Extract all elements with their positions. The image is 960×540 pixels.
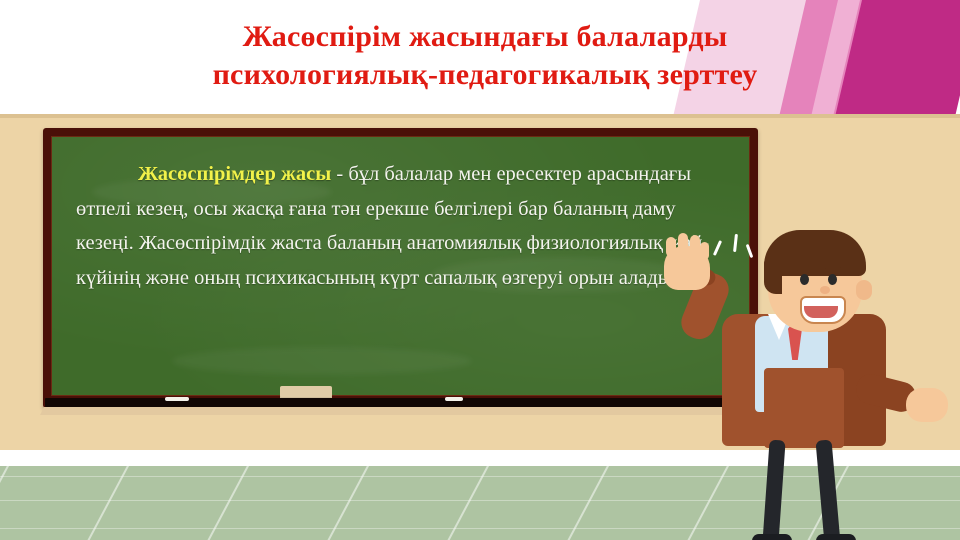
teacher-shoe-right: [816, 534, 856, 540]
teacher-waving-hand: [664, 246, 710, 290]
highlighted-term: Жасөспірімдер жасы: [138, 163, 331, 185]
wave-spark-icon: [733, 234, 738, 252]
slide-canvas: Жасөспірім жасындағы балаларды психологи…: [0, 0, 960, 540]
teacher-shoe-left: [752, 534, 792, 540]
teacher-lower-hand: [906, 388, 948, 422]
wave-spark-icon: [746, 244, 754, 258]
wave-spark-icon: [713, 240, 722, 256]
teacher-leg-right: [815, 440, 840, 540]
blackboard-surface: Жасөспірімдер жасы - бұл балалар мен ере…: [51, 136, 750, 396]
teacher-eye-left: [800, 274, 809, 285]
cartoon-teacher: [660, 228, 960, 540]
teacher-ear: [856, 280, 872, 300]
teacher-jacket-front: [764, 368, 844, 448]
board-line-6: оның психикасының күрт сапалық өзгеруі о…: [194, 267, 613, 289]
wall-trim: [0, 114, 960, 118]
blackboard: Жасөспірімдер жасы - бұл балалар мен ере…: [43, 128, 758, 408]
board-line-3: ғана тән ерекше белгілері бар баланың да…: [289, 198, 676, 220]
chalk-stick-left-icon: [165, 397, 189, 401]
chalk-stick-right-icon: [445, 397, 463, 401]
teacher-mouth-inner: [804, 306, 838, 318]
teacher-leg-left: [762, 440, 785, 540]
blackboard-text: Жасөспірімдер жасы - бұл балалар мен ере…: [76, 157, 725, 295]
teacher-eye-right: [828, 274, 837, 285]
board-line-1: - бұл балалар мен: [331, 163, 491, 185]
teacher-sideburn: [764, 254, 782, 294]
slide-title: Жасөспірім жасындағы балаларды психологи…: [80, 18, 890, 94]
teacher-nose: [820, 286, 830, 294]
board-line-4: кезеңі. Жасөспірімдік жаста баланың: [76, 232, 402, 254]
